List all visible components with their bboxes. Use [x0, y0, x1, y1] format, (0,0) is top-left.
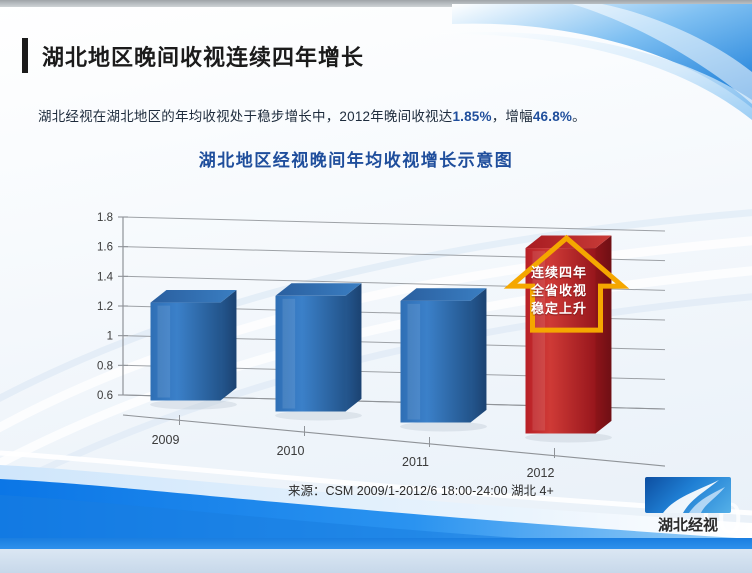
subtitle-line: 湖北经视在湖北地区的年均收视处于稳步增长中，2012年晚间收视达1.85%，增幅… [38, 105, 586, 125]
chart-svg: 0.60.811.21.41.61.8 2009201020112012 [95, 195, 665, 485]
x-tick-label: 2012 [527, 466, 555, 480]
callout-line-2: 全省收视 [513, 282, 605, 300]
callout-line-3: 稳定上升 [513, 300, 605, 318]
chart-title-text: 湖北地区经视晚间年均收视增长示意图 [199, 151, 514, 170]
chart-title: 湖北地区经视晚间年均收视增长示意图 [0, 146, 752, 171]
bottom-blue-band [0, 538, 752, 549]
top-strip [0, 0, 752, 7]
subtitle-part-2: ，增幅 [492, 109, 533, 124]
y-tick-label: 1.6 [97, 242, 113, 254]
x-tick-label: 2009 [152, 433, 180, 447]
bar-2010 [275, 283, 362, 420]
title-text: 湖北地区晚间收视连续四年增长 [42, 40, 364, 72]
title-accent-bar [22, 38, 28, 73]
y-tick-label: 1.4 [97, 271, 114, 283]
slide-canvas: 湖北地区晚间收视连续四年增长 湖北经视在湖北地区的年均收视处于稳步增长中，201… [0, 0, 752, 573]
bar-chart: 0.60.811.21.41.61.8 2009201020112012 [95, 195, 665, 485]
chart-y-tick-labels: 0.60.811.21.41.61.8 [97, 212, 114, 402]
x-tick-label: 2010 [277, 444, 305, 458]
bottom-light-band [0, 549, 752, 573]
subtitle-part-1: 湖北经视在湖北地区的年均收视处于稳步增长中，2012年晚间收视达 [38, 109, 452, 124]
y-tick-label: 1 [107, 331, 113, 343]
callout-line-1: 连续四年 [513, 264, 605, 282]
bar-2011 [400, 288, 487, 431]
y-tick-label: 1.2 [97, 301, 113, 313]
brand-logo: 湖北经视 [645, 477, 731, 535]
x-tick-label: 2011 [402, 455, 429, 469]
page-title: 湖北地区晚间收视连续四年增长 [22, 38, 364, 73]
logo-text: 湖北经视 [645, 514, 731, 535]
logo-mark-icon [645, 477, 731, 513]
chart-x-tick-labels: 2009201020112012 [152, 433, 555, 480]
logo-swoosh-icon [645, 477, 731, 513]
subtitle-highlight-2: 46.8% [533, 109, 572, 124]
y-tick-label: 0.8 [97, 360, 113, 372]
source-note: 来源：CSM 2009/1-2012/6 18:00-24:00 湖北 4+ [288, 480, 554, 499]
subtitle-highlight-1: 1.85% [452, 109, 491, 124]
y-tick-label: 1.8 [97, 212, 113, 224]
y-tick-label: 0.6 [97, 390, 113, 402]
callout-annotation: 连续四年 全省收视 稳定上升 [513, 264, 605, 318]
subtitle-part-3: 。 [572, 109, 586, 124]
bar-2009 [150, 290, 237, 410]
